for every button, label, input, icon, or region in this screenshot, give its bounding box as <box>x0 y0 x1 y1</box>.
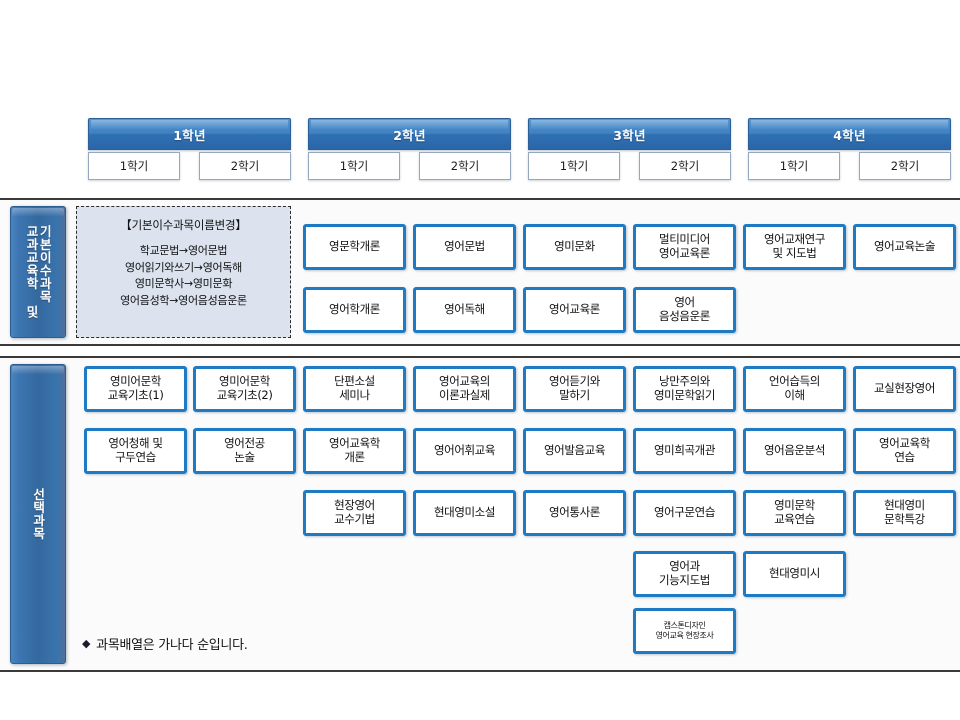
elective-course-box[interactable]: 영어발음교육 <box>523 428 626 474</box>
elective-course-box[interactable]: 영어교육학연습 <box>853 428 956 474</box>
semester-box-4-2: 2학기 <box>859 152 951 180</box>
year-group-1: 1학년 1학기 2학기 <box>88 118 291 192</box>
basic-course-box[interactable]: 영어문법 <box>413 224 516 270</box>
year-title-4: 4학년 <box>748 118 951 150</box>
note-title: 【기본이수과목이름변경】 <box>83 217 284 233</box>
year-title-2: 2학년 <box>308 118 511 150</box>
semester-box-4-1: 1학기 <box>748 152 840 180</box>
elective-course-box[interactable]: 현대영미소설 <box>413 490 516 536</box>
curriculum-chart-page: 1학년 1학기 2학기 2학년 1학기 2학기 3학년 1학기 2학기 4학년 … <box>0 0 960 720</box>
basic-course-box[interactable]: 영어교재연구및 지도법 <box>743 224 846 270</box>
elective-course-box[interactable]: 낭만주의와영미문학읽기 <box>633 366 736 412</box>
name-change-note-box: 【기본이수과목이름변경】 학교문법→영어문법 영어읽기와쓰기→영어독해 영미문학… <box>76 206 291 338</box>
semester-box-3-1: 1학기 <box>528 152 620 180</box>
semester-row-2: 1학기 2학기 <box>308 152 511 180</box>
elective-course-box[interactable]: 영어통사론 <box>523 490 626 536</box>
diamond-bullet-icon: ◆ <box>82 638 90 649</box>
footnote: ◆ 과목배열은 가나다 순입니다. <box>82 634 248 653</box>
semester-row-4: 1학기 2학기 <box>748 152 951 180</box>
note-line-4: 영어음성학→영어음성음운론 <box>83 293 284 310</box>
basic-course-box[interactable]: 영어음성음운론 <box>633 287 736 333</box>
sidebar-tab-basic-label-right: 기본이수과목 <box>38 225 51 319</box>
elective-course-box[interactable]: 영미문학교육연습 <box>743 490 846 536</box>
elective-course-box[interactable]: 영어교육의이론과실제 <box>413 366 516 412</box>
elective-course-box[interactable]: 언어습득의이해 <box>743 366 846 412</box>
elective-course-box[interactable]: 영어듣기와말하기 <box>523 366 626 412</box>
year-group-3: 3학년 1학기 2학기 <box>528 118 731 192</box>
basic-course-box[interactable]: 영어교육론 <box>523 287 626 333</box>
year-header-row: 1학년 1학기 2학기 2학년 1학기 2학기 3학년 1학기 2학기 4학년 … <box>0 118 960 192</box>
note-line-2: 영어읽기와쓰기→영어독해 <box>83 260 284 277</box>
elective-course-box[interactable]: 교실현장영어 <box>853 366 956 412</box>
elective-course-box[interactable]: 영어교육학개론 <box>303 428 406 474</box>
sidebar-tab-elective-courses: 선택과목 <box>10 364 66 664</box>
elective-course-box[interactable]: 영어과기능지도법 <box>633 551 736 597</box>
semester-box-2-1: 1학기 <box>308 152 400 180</box>
semester-row-3: 1학기 2학기 <box>528 152 731 180</box>
footnote-text: 과목배열은 가나다 순입니다. <box>96 634 247 653</box>
elective-course-box[interactable]: 영어전공논술 <box>193 428 296 474</box>
semester-box-3-2: 2학기 <box>639 152 731 180</box>
elective-course-box[interactable]: 영미희곡개관 <box>633 428 736 474</box>
basic-course-box[interactable]: 영어독해 <box>413 287 516 333</box>
elective-course-box[interactable]: 영미어문학교육기초(2) <box>193 366 296 412</box>
semester-box-2-2: 2학기 <box>419 152 511 180</box>
elective-course-box[interactable]: 현대영미문학특강 <box>853 490 956 536</box>
sidebar-tab-basic-label-left: 교과교육학 및 <box>25 225 38 319</box>
sidebar-tab-basic-text-wrap: 기본이수과목 교과교육학 및 <box>25 225 52 319</box>
year-title-1: 1학년 <box>88 118 291 150</box>
elective-course-box[interactable]: 단편소설세미나 <box>303 366 406 412</box>
year-title-3: 3학년 <box>528 118 731 150</box>
sidebar-tab-basic-courses: 기본이수과목 교과교육학 및 <box>10 206 66 338</box>
elective-course-box[interactable]: 영미어문학교육기초(1) <box>84 366 187 412</box>
elective-course-box[interactable]: 영어구문연습 <box>633 490 736 536</box>
basic-course-box[interactable]: 영미문화 <box>523 224 626 270</box>
semester-row-1: 1학기 2학기 <box>88 152 291 180</box>
semester-box-1-2: 2학기 <box>199 152 291 180</box>
basic-course-box[interactable]: 영어교육논술 <box>853 224 956 270</box>
semester-box-1-1: 1학기 <box>88 152 180 180</box>
basic-course-box[interactable]: 영문학개론 <box>303 224 406 270</box>
basic-course-box[interactable]: 영어학개론 <box>303 287 406 333</box>
basic-course-box[interactable]: 멀티미디어영어교육론 <box>633 224 736 270</box>
note-line-3: 영미문학사→영미문화 <box>83 276 284 293</box>
elective-course-box[interactable]: 영어어휘교육 <box>413 428 516 474</box>
year-group-4: 4학년 1학기 2학기 <box>748 118 951 192</box>
elective-course-box[interactable]: 현장영어교수기법 <box>303 490 406 536</box>
elective-course-box[interactable]: 영어음운분석 <box>743 428 846 474</box>
sidebar-tab-elective-label: 선택과목 <box>31 488 44 540</box>
year-group-2: 2학년 1학기 2학기 <box>308 118 511 192</box>
elective-course-box[interactable]: 현대영미시 <box>743 551 846 597</box>
elective-course-box[interactable]: 영어청해 및구두연습 <box>84 428 187 474</box>
elective-course-box[interactable]: 캡스톤디자인영어교육 현장조사 <box>633 608 736 654</box>
note-line-1: 학교문법→영어문법 <box>83 243 284 260</box>
